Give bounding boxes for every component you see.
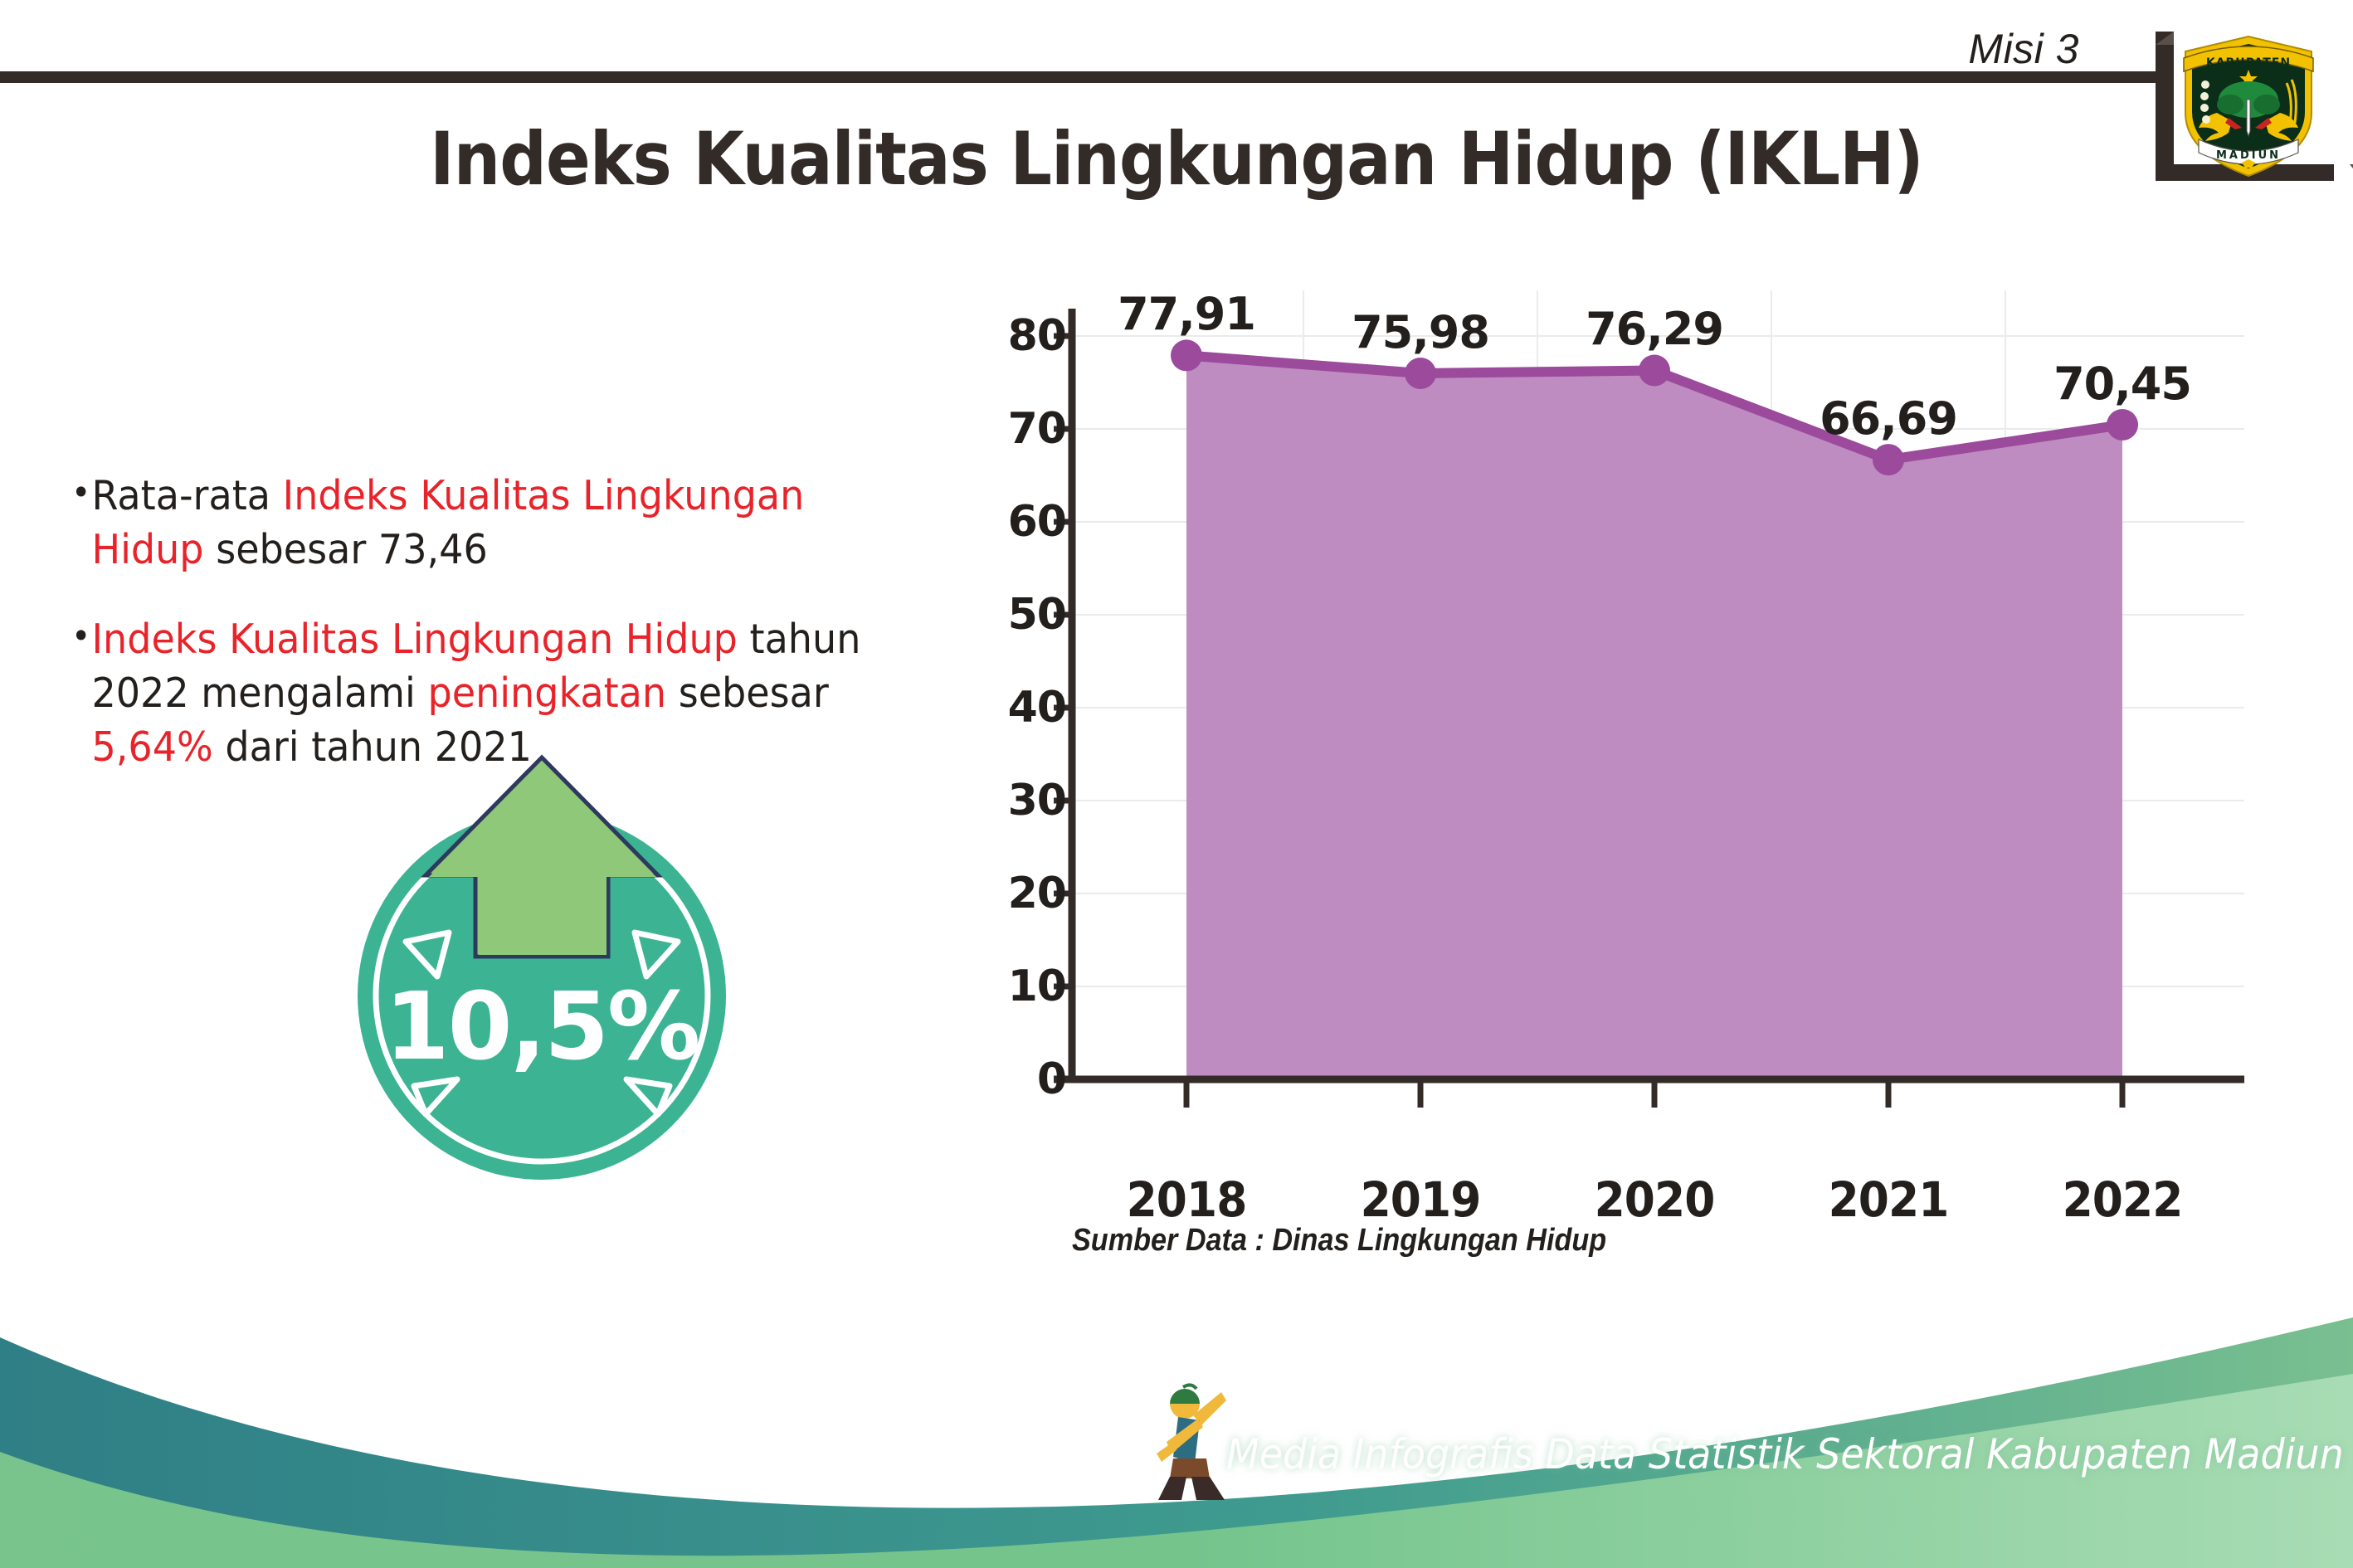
bullet-1-seg-0: Rata-rata [91,472,282,519]
xtick-label-2019: 2019 [1321,1171,1519,1228]
footer-text: Media Infografis Data Statistik Sektoral… [1226,1430,2353,1478]
ytick-label-50: 50 [933,590,1066,640]
crest-top-banner-text: KABUPATEN [2206,56,2291,70]
chart-plot-svg [962,290,2307,1220]
data-label-2020: 76,29 [1547,303,1762,355]
ytick-label-0: 0 [933,1054,1066,1104]
data-label-2019: 75,98 [1313,306,1528,358]
bullet-2-seg-3: sebesar [666,670,829,717]
ytick-label-40: 40 [933,683,1066,733]
xtick-label-2020: 2020 [1555,1171,1753,1228]
ytick-label-10: 10 [933,962,1066,1011]
data-label-2018: 77,91 [1079,288,1294,340]
chart-marker-2022 [2107,409,2138,441]
ytick-label-70: 70 [933,404,1066,454]
source-note: Sumber Data : Dinas Lingkungan Hidup [1072,1223,1606,1259]
chart-marker-2021 [1873,444,1904,475]
xtick-label-2022: 2022 [2023,1171,2221,1228]
chart-area-fill [1186,355,2122,1079]
dancer-figure-logo-icon [1145,1377,1236,1502]
bullet-2-seg-2: peningkatan [427,670,666,717]
chart-marker-2018 [1171,339,1202,371]
ytick-label-20: 20 [933,869,1066,918]
increase-badge: 10,5% [326,751,758,1182]
footer-decoration: Media Infografis Data Statistik Sektoral… [0,1294,2353,1568]
ytick-label-60: 60 [933,497,1066,547]
iklh-area-chart: 80 70 60 50 40 30 20 10 0 [962,290,2307,1220]
xtick-label-2018: 2018 [1087,1171,1285,1228]
infographic-page: Misi 3 KABUPATEN [0,0,2353,1568]
badge-percent-value: 10,5% [326,973,758,1081]
ytick-label-30: 30 [933,776,1066,825]
chart-marker-2019 [1405,358,1436,389]
header-rule [0,71,2165,83]
bullet-1-seg-2: sebesar 73,46 [204,526,488,573]
data-label-2021: 66,69 [1781,392,1996,445]
xtick-label-2021: 2021 [1789,1171,1987,1228]
misi-label: Misi 3 [1968,25,2079,73]
bracket-horizontal-bevel [2350,164,2353,181]
bullet-2-seg-0: Indeks Kualitas Lingkungan Hidup [91,616,737,663]
bracket-vertical-bevel [2156,32,2174,45]
bullet-item-average: Rata-rata Indeks Kualitas Lingkungan Hid… [71,470,898,577]
data-label-2022: 70,45 [2014,358,2230,410]
ytick-label-80: 80 [933,311,1066,361]
bullet-2-seg-4: 5,64% [91,723,212,771]
chart-marker-2020 [1639,355,1670,387]
page-title: Indeks Kualitas Lingkungan Hidup (IKLH) [118,116,2235,202]
